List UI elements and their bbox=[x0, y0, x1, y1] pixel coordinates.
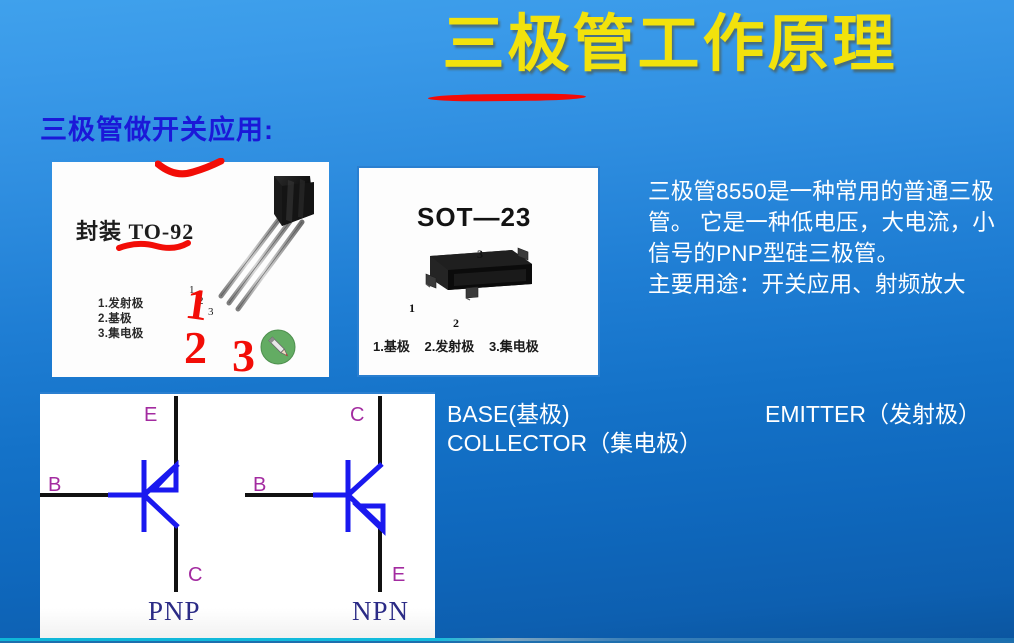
label-emitter: EMITTER（发射极） bbox=[765, 400, 981, 428]
pen-cursor-icon[interactable] bbox=[258, 327, 298, 367]
pnp-emitter-label: E bbox=[144, 404, 157, 427]
sot23-pin-1: 1.基极 bbox=[373, 339, 410, 354]
transistor-symbols-panel: E C B PNP C E B NPN bbox=[40, 392, 435, 643]
sot23-pin-2: 2.发射极 bbox=[424, 339, 474, 354]
npn-collector-label: C bbox=[350, 404, 364, 427]
label-collector: COLLECTOR（集电极） bbox=[447, 429, 702, 457]
terminal-labels: BASE(基极) EMITTER（发射极） COLLECTOR（集电极） bbox=[447, 400, 1007, 428]
label-base: BASE(基极) bbox=[447, 400, 570, 428]
pnp-base-label: B bbox=[48, 474, 61, 497]
sot23-photo-panel: SOT—23 1 bbox=[357, 166, 600, 377]
sot23-pad-number-3: 3 bbox=[477, 247, 483, 262]
description-text: 三极管8550是一种常用的普通三极管。 它是一种低电压，大电流，小信号的PNP型… bbox=[648, 176, 1004, 300]
to92-caption: 封装 TO-92 bbox=[76, 214, 194, 246]
to92-pin-list: 1.发射极 2.基极 3.集电极 bbox=[98, 297, 144, 342]
page-title: 三极管工作原理 bbox=[410, 6, 930, 84]
npn-name: NPN bbox=[352, 596, 409, 627]
section-subtitle: 三极管做开关应用: bbox=[40, 108, 274, 147]
npn-emitter-label: E bbox=[392, 564, 405, 587]
sot23-pin-list: 1.基极 2.发射极 3.集电极 bbox=[373, 336, 550, 355]
sot23-pin-3: 3.集电极 bbox=[489, 339, 539, 354]
slide-canvas: 三极管工作原理 三极管做开关应用: 封装 TO-92 1.发射极 2.基极 3.… bbox=[0, 0, 1014, 643]
to92-pin-1: 1.发射极 bbox=[98, 297, 144, 312]
sot23-pad-number-2: 2 bbox=[453, 316, 459, 331]
to92-pin-3: 3.集电极 bbox=[98, 327, 144, 342]
to92-leg-number-3: 3 bbox=[208, 306, 214, 318]
sot23-pad-number-1: 1 bbox=[409, 301, 415, 316]
to92-transistor-illustration bbox=[202, 170, 322, 350]
npn-base-label: B bbox=[253, 474, 266, 497]
sot23-title: SOT—23 bbox=[417, 202, 531, 233]
pnp-collector-label: C bbox=[188, 564, 202, 587]
pnp-name: PNP bbox=[148, 596, 201, 627]
to92-leg-number-1: 1 bbox=[189, 284, 195, 296]
to92-leg-number-2: 2 bbox=[198, 295, 204, 307]
to92-pin-2: 2.基极 bbox=[98, 312, 144, 327]
title-underline-annotation bbox=[428, 93, 586, 102]
